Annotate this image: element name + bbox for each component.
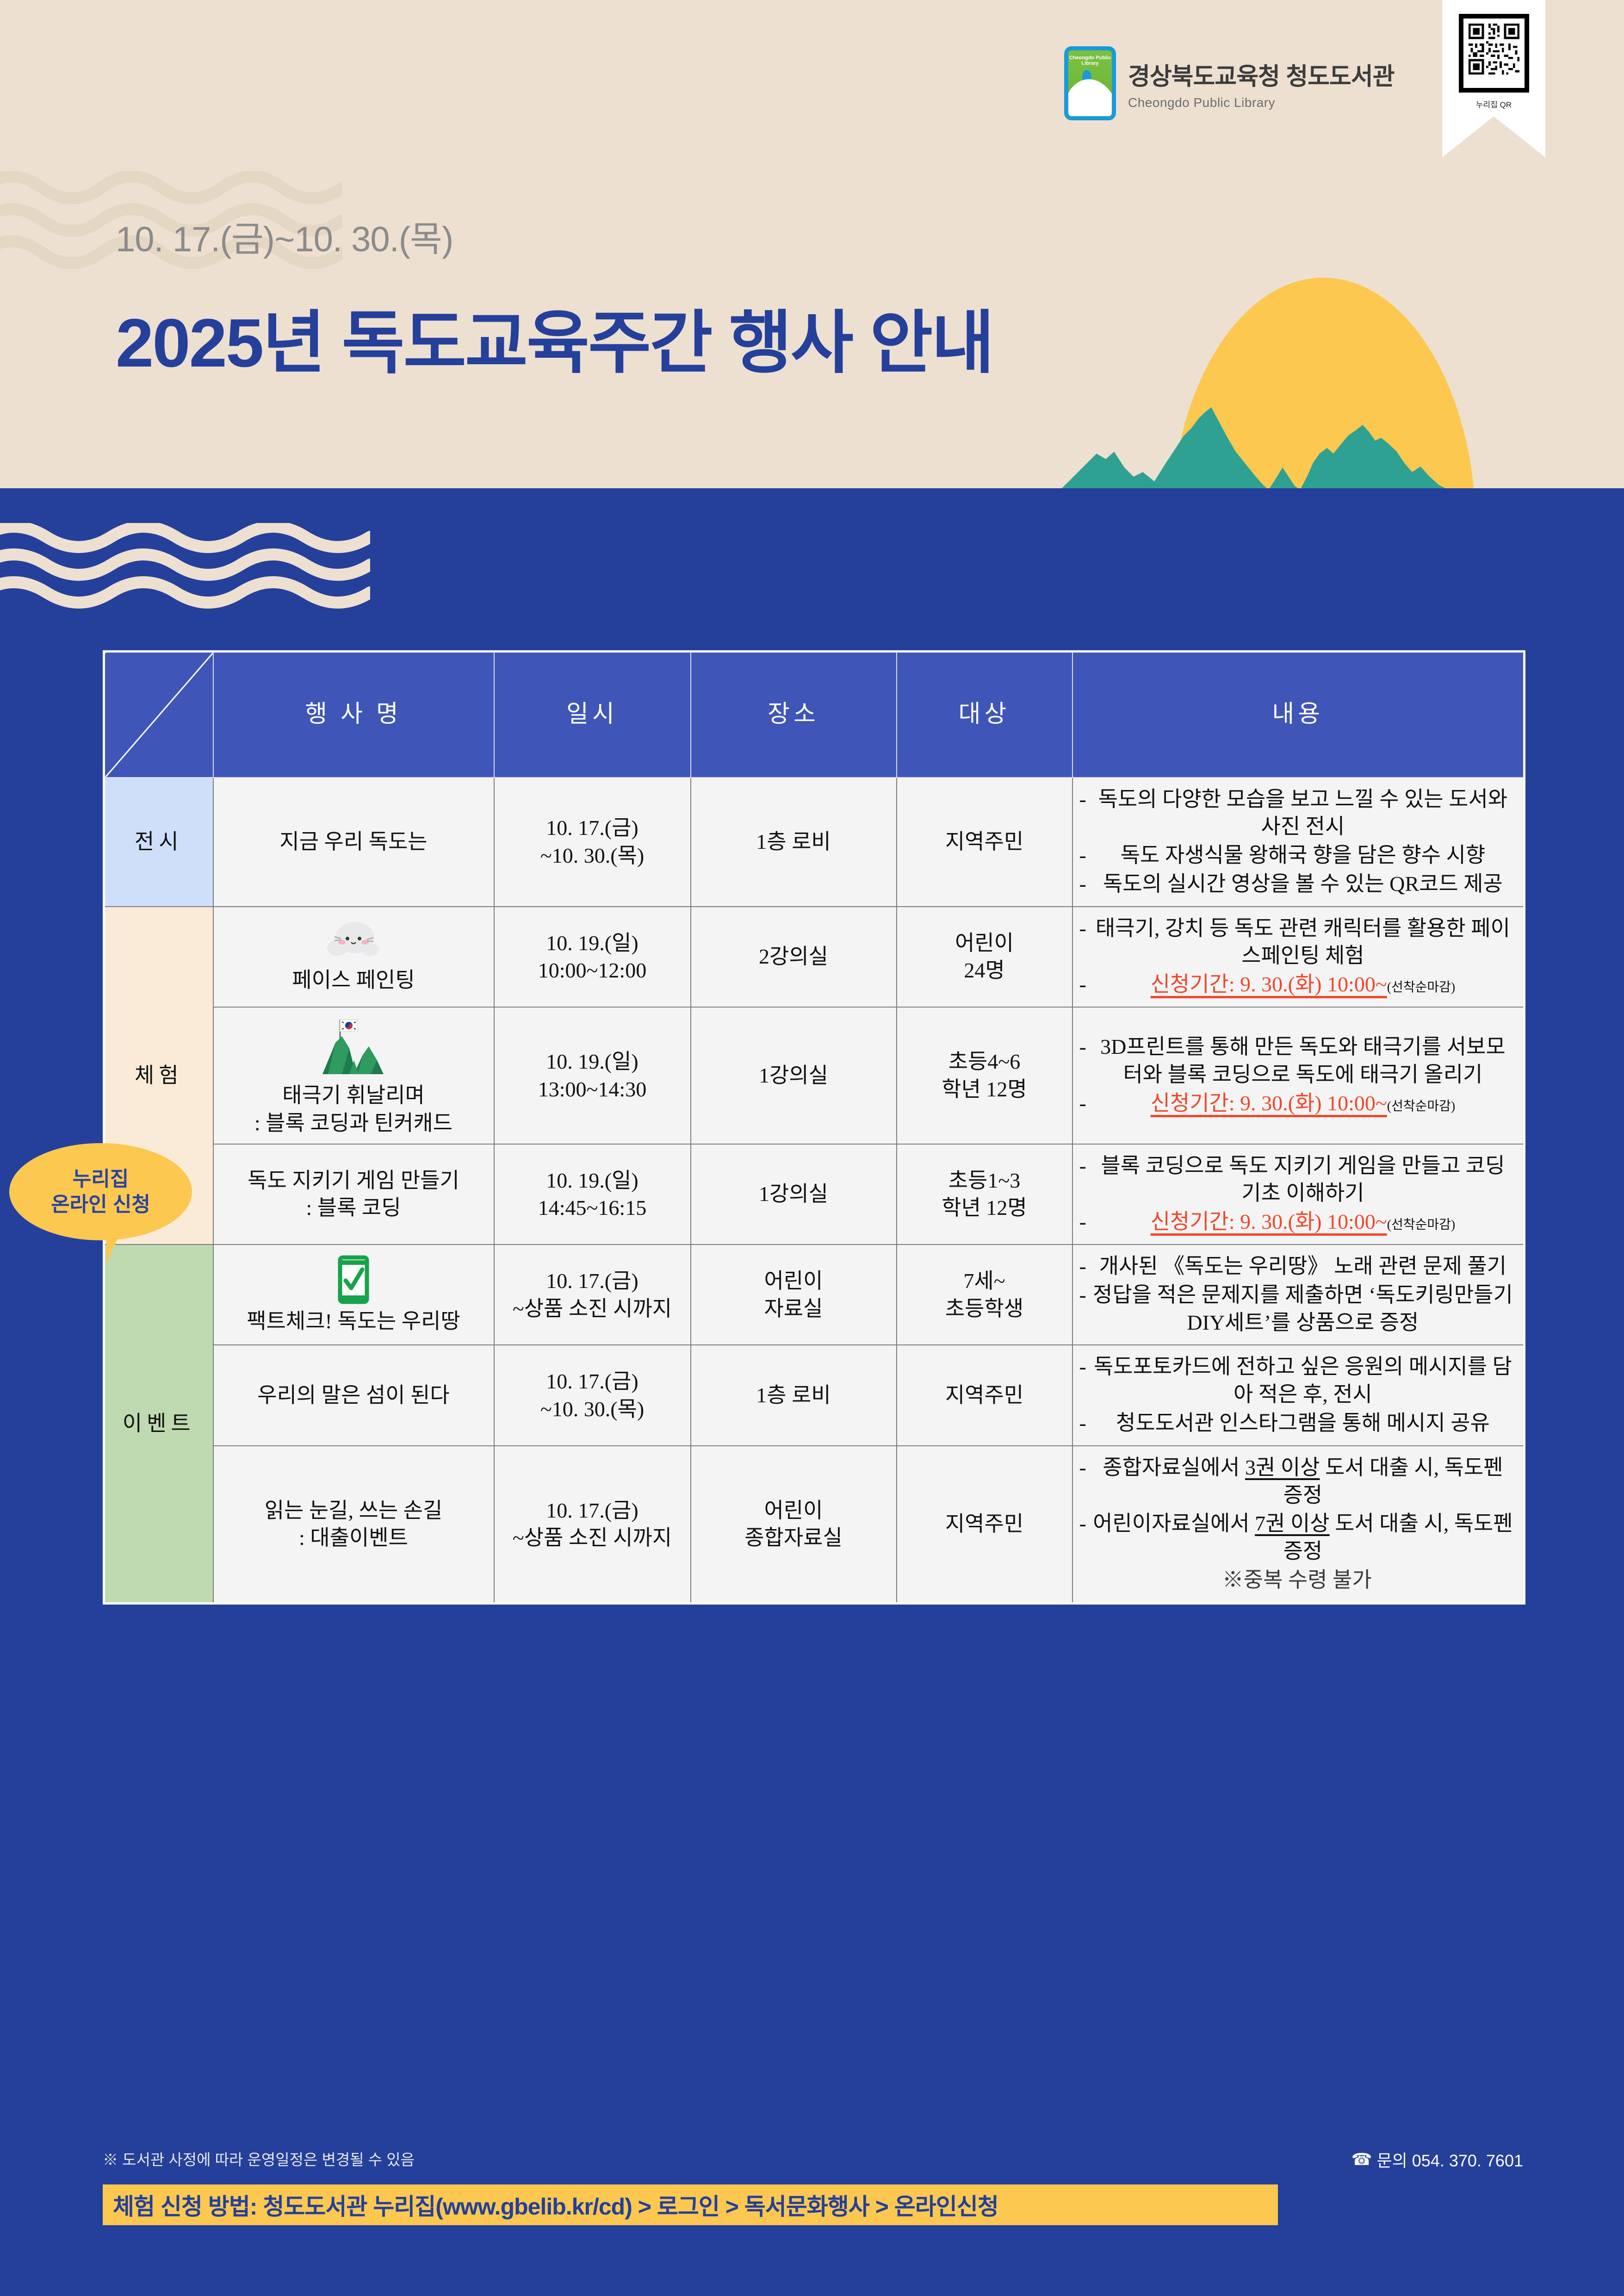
event-when-cell-line: ~10. 30.(목) <box>495 842 690 870</box>
table-body: 전시지금 우리 독도는10. 17.(금)~10. 30.(목)1층 로비지역주… <box>104 778 1525 1604</box>
column-header-name: 행 사 명 <box>213 652 494 778</box>
bullet-dash: - <box>1079 870 1086 898</box>
qr-ribbon: 누리집 QR <box>1442 0 1545 157</box>
event-where-cell: 어린이종합자료실 <box>691 1446 897 1603</box>
event-name-cell: 읽는 눈길, 쓰는 손길: 대출이벤트 <box>213 1446 494 1603</box>
event-when-cell-line: 10. 17.(금) <box>495 1497 690 1524</box>
event-name-cell: 태극기 휘날리며: 블록 코딩과 틴커캐드 <box>213 1007 494 1144</box>
table-row: 이벤트 팩트체크! 독도는 우리땅10. 17.(금)~상품 소진 시까지어린이… <box>104 1244 1525 1345</box>
event-who-cell: 7세~초등학생 <box>897 1244 1072 1345</box>
mountain-graphic <box>1060 407 1624 488</box>
event-who-cell: 어린이24명 <box>897 907 1072 1007</box>
desc-emphasis: 7권 이상 <box>1255 1512 1329 1535</box>
bullet-dash: - <box>1079 1208 1086 1236</box>
event-name-cell: 지금 우리 독도는 <box>213 778 494 907</box>
desc-text: 개사된 《독도는 우리땅》 노래 관련 문제 풀기 <box>1091 1252 1515 1280</box>
event-when-cell-line: ~상품 소진 시까지 <box>495 1524 690 1552</box>
event-where-cell-line: 어린이 <box>691 1267 896 1295</box>
event-description-cell: - 독도포토카드에 전하고 싶은 응원의 메시지를 담아 적은 후, 전시 - … <box>1072 1345 1525 1445</box>
event-who-cell-line: 학년 12명 <box>897 1076 1072 1103</box>
event-who-cell: 지역주민 <box>897 778 1072 907</box>
application-period-text: 신청기간: 9. 30.(화) 10:00~ <box>1151 1091 1387 1115</box>
bullet-dash: - <box>1079 1252 1086 1280</box>
column-header-where: 장소 <box>691 652 897 778</box>
event-description-cell: - 개사된 《독도는 우리땅》 노래 관련 문제 풀기 - 정답을 적은 문제지… <box>1072 1244 1525 1345</box>
qr-code[interactable] <box>1459 14 1529 93</box>
event-who-cell: 지역주민 <box>897 1345 1072 1445</box>
table-row: 태극기 휘날리며: 블록 코딩과 틴커캐드10. 19.(일)13:00~14:… <box>104 1007 1525 1144</box>
event-when-cell: 10. 19.(일)14:45~16:15 <box>494 1144 691 1244</box>
library-logo-text: 경상북도교육청 청도도서관 Cheongdo Public Library <box>1128 57 1395 110</box>
event-where-cell: 1층 로비 <box>691 778 897 907</box>
desc-bullet: - 신청기간: 9. 30.(화) 10:00~(선착순마감) <box>1079 1208 1515 1236</box>
event-who-cell-line: 초등4~6 <box>897 1048 1072 1076</box>
event-who-cell: 초등4~6학년 12명 <box>897 1007 1072 1144</box>
event-where-cell-line: 1강의실 <box>691 1180 896 1208</box>
bullet-dash: - <box>1079 971 1086 998</box>
bubble-line-1: 누리집 <box>73 1166 129 1192</box>
phone-number: 문의 054. 370. 7601 <box>1377 2147 1523 2172</box>
column-header-desc: 내용 <box>1072 652 1525 778</box>
seal-character-icon <box>319 919 388 964</box>
desc-text: 태극기, 강치 등 독도 관련 캐릭터를 활용한 페이스페인팅 체험 <box>1091 915 1515 970</box>
desc-bullet: - 어린이자료실에서 7권 이상 도서 대출 시, 독도펜 증정 <box>1079 1510 1515 1565</box>
body-wave-decoration <box>0 523 370 611</box>
org-name-ko: 경상북도교육청 청도도서관 <box>1128 57 1395 92</box>
event-when-cell-line: ~10. 30.(목) <box>495 1395 690 1423</box>
event-when-cell: 10. 17.(금)~10. 30.(목) <box>494 1345 691 1445</box>
desc-note: ※중복 수령 불가 <box>1079 1566 1515 1594</box>
event-when-cell-line: 10. 19.(일) <box>495 1048 690 1076</box>
desc-text: 어린이자료실에서 7권 이상 도서 대출 시, 독도펜 증정 <box>1091 1510 1515 1565</box>
desc-text: 정답을 적은 문제지를 제출하면 ‘독도키링만들기 DIY세트’를 상품으로 증… <box>1091 1281 1515 1337</box>
bullet-dash: - <box>1079 1454 1086 1481</box>
column-header-who: 대상 <box>897 652 1072 778</box>
desc-bullet: - 3D프린트를 통해 만든 독도와 태극기를 서보모터와 블록 코딩으로 독도… <box>1079 1033 1515 1089</box>
event-when-cell-line: 10. 17.(금) <box>495 1267 690 1295</box>
library-logo-mark: Cheongdo Public Library <box>1064 46 1116 120</box>
event-when-cell: 10. 17.(금)~10. 30.(목) <box>494 778 691 907</box>
desc-text: 신청기간: 9. 30.(화) 10:00~(선착순마감) <box>1091 1208 1515 1236</box>
event-name-cell: 페이스 페인팅 <box>213 907 494 1007</box>
event-when-cell-line: ~상품 소진 시까지 <box>495 1295 690 1323</box>
desc-bullet: - 청도도서관 인스타그램을 통해 메시지 공유 <box>1079 1409 1515 1437</box>
event-who-cell-line: 어린이 <box>897 929 1072 957</box>
event-name-line: 우리의 말은 섬이 된다 <box>217 1381 490 1409</box>
event-description-cell: - 블록 코딩으로 독도 지키기 게임을 만들고 코딩 기초 이해하기 - 신청… <box>1072 1144 1525 1244</box>
logo-mark-text: Cheongdo Public Library <box>1068 55 1112 66</box>
event-when-cell-line: 14:45~16:15 <box>495 1194 690 1222</box>
desc-bullet: - 종합자료실에서 3권 이상 도서 대출 시, 독도펜 증정 <box>1079 1454 1515 1509</box>
event-description-cell: - 종합자료실에서 3권 이상 도서 대출 시, 독도펜 증정 - 어린이자료실… <box>1072 1446 1525 1603</box>
event-name-line: 읽는 눈길, 쓰는 손길 <box>217 1497 490 1524</box>
desc-bullet: - 독도의 실시간 영상을 볼 수 있는 QR코드 제공 <box>1079 870 1515 898</box>
application-period-text: 신청기간: 9. 30.(화) 10:00~ <box>1151 972 1387 996</box>
event-when-cell-line: 10. 19.(일) <box>495 1167 690 1195</box>
event-where-cell: 1층 로비 <box>691 1345 897 1445</box>
bullet-dash: - <box>1079 1353 1086 1381</box>
desc-emphasis: 3권 이상 <box>1245 1456 1320 1479</box>
table-row: 우리의 말은 섬이 된다10. 17.(금)~10. 30.(목)1층 로비지역… <box>104 1345 1525 1445</box>
first-come-note: (선착순마감) <box>1387 1098 1455 1115</box>
event-who-cell-line: 지역주민 <box>897 828 1072 856</box>
event-description-cell: - 태극기, 강치 등 독도 관련 캐릭터를 활용한 페이스페인팅 체험 - 신… <box>1072 907 1525 1007</box>
event-name-line: 태극기 휘날리며 <box>217 1082 490 1109</box>
desc-bullet: - 정답을 적은 문제지를 제출하면 ‘독도키링만들기 DIY세트’를 상품으로… <box>1079 1281 1515 1337</box>
event-who-cell-line: 초등학생 <box>897 1295 1072 1323</box>
event-name-line: 독도 지키기 게임 만들기 <box>217 1167 490 1195</box>
qr-caption: 누리집 QR <box>1442 98 1545 110</box>
event-when-cell-line: 10. 17.(금) <box>495 814 690 842</box>
mountain-flag-icon <box>310 1014 397 1079</box>
first-come-note: (선착순마감) <box>1387 1217 1455 1233</box>
category-cell-exhibit: 전시 <box>104 778 213 907</box>
table-row: 체험 페이스 페인팅10. 19.(일)10:00~12:002강의실어린이24… <box>104 907 1525 1007</box>
bullet-dash: - <box>1079 1281 1086 1309</box>
bullet-dash: - <box>1079 841 1086 869</box>
table-row: 독도 지키기 게임 만들기: 블록 코딩10. 19.(일)14:45~16:1… <box>104 1144 1525 1244</box>
column-header-when: 일시 <box>494 652 691 778</box>
desc-bullet: - 블록 코딩으로 독도 지키기 게임을 만들고 코딩 기초 이해하기 <box>1079 1152 1515 1207</box>
event-when-cell: 10. 19.(일)13:00~14:30 <box>494 1007 691 1144</box>
event-name-line: : 블록 코딩과 틴커캐드 <box>217 1109 490 1137</box>
desc-text: 3D프린트를 통해 만든 독도와 태극기를 서보모터와 블록 코딩으로 독도에 … <box>1091 1033 1515 1089</box>
event-name-line: : 블록 코딩 <box>217 1194 490 1222</box>
event-when-cell: 10. 17.(금)~상품 소진 시까지 <box>494 1244 691 1345</box>
bullet-dash: - <box>1079 1510 1086 1537</box>
table-corner-cell <box>104 652 213 778</box>
event-name-line: : 대출이벤트 <box>217 1524 490 1552</box>
event-when-cell: 10. 19.(일)10:00~12:00 <box>494 907 691 1007</box>
page-title: 2025년 독도교육주간 행사 안내 <box>116 287 993 386</box>
desc-text: 청도도서관 인스타그램을 통해 메시지 공유 <box>1091 1409 1515 1437</box>
event-who-cell-line: 7세~ <box>897 1267 1072 1295</box>
desc-bullet: - 독도의 다양한 모습을 보고 느낄 수 있는 도서와 사진 전시 <box>1079 785 1515 841</box>
event-who-cell: 지역주민 <box>897 1446 1072 1603</box>
table-header-row: 행 사 명 일시 장소 대상 내용 <box>104 652 1525 778</box>
event-where-cell-line: 2강의실 <box>691 943 896 971</box>
event-where-cell: 2강의실 <box>691 907 897 1007</box>
bullet-dash: - <box>1079 1033 1086 1061</box>
desc-text: 독도포토카드에 전하고 싶은 응원의 메시지를 담아 적은 후, 전시 <box>1091 1353 1515 1408</box>
event-description-cell: - 3D프린트를 통해 만든 독도와 태극기를 서보모터와 블록 코딩으로 독도… <box>1072 1007 1525 1144</box>
desc-text: 블록 코딩으로 독도 지키기 게임을 만들고 코딩 기초 이해하기 <box>1091 1152 1515 1207</box>
org-name-en: Cheongdo Public Library <box>1128 95 1395 110</box>
event-who-cell-line: 24명 <box>897 957 1072 984</box>
desc-text: 신청기간: 9. 30.(화) 10:00~(선착순마감) <box>1091 1089 1515 1117</box>
event-when-cell-line: 13:00~14:30 <box>495 1076 690 1103</box>
phone-icon: ☎ <box>1351 2150 1372 2169</box>
desc-bullet: - 독도 자생식물 왕해국 향을 담은 향수 시향 <box>1079 841 1515 869</box>
desc-text: 종합자료실에서 3권 이상 도서 대출 시, 독도펜 증정 <box>1091 1454 1515 1509</box>
event-who-cell-line: 초등1~3 <box>897 1167 1072 1195</box>
bullet-dash: - <box>1079 1409 1086 1437</box>
library-logo: Cheongdo Public Library 경상북도교육청 청도도서관 Ch… <box>1064 46 1395 120</box>
application-period-text: 신청기간: 9. 30.(화) 10:00~ <box>1151 1210 1387 1233</box>
event-description-cell: - 독도의 다양한 모습을 보고 느낄 수 있는 도서와 사진 전시 - 독도 … <box>1072 778 1525 907</box>
event-where-cell-line: 1강의실 <box>691 1062 896 1089</box>
event-where-cell-line: 자료실 <box>691 1295 896 1323</box>
bullet-dash: - <box>1079 1152 1086 1180</box>
event-where-cell-line: 1층 로비 <box>691 1381 896 1409</box>
bullet-dash: - <box>1079 915 1086 942</box>
event-who-cell-line: 지역주민 <box>897 1510 1072 1538</box>
event-who-cell-line: 지역주민 <box>897 1381 1072 1409</box>
event-when-cell-line: 10:00~12:00 <box>495 957 690 984</box>
desc-text: 독도 자생식물 왕해국 향을 담은 향수 시향 <box>1091 841 1515 869</box>
desc-bullet: - 신청기간: 9. 30.(화) 10:00~(선착순마감) <box>1079 971 1515 998</box>
desc-text: 독도의 다양한 모습을 보고 느낄 수 있는 도서와 사진 전시 <box>1091 785 1515 841</box>
event-when-cell-line: 10. 19.(일) <box>495 929 690 957</box>
header-band: Cheongdo Public Library 경상북도교육청 청도도서관 Ch… <box>0 0 1624 488</box>
bullet-dash: - <box>1079 1089 1086 1117</box>
event-who-cell: 초등1~3학년 12명 <box>897 1144 1072 1244</box>
table-row: 읽는 눈길, 쓰는 손길: 대출이벤트10. 17.(금)~상품 소진 시까지어… <box>104 1446 1525 1603</box>
event-name-cell: 팩트체크! 독도는 우리땅 <box>213 1244 494 1345</box>
event-who-cell-line: 학년 12명 <box>897 1194 1072 1222</box>
event-where-cell: 1강의실 <box>691 1007 897 1144</box>
desc-bullet: - 독도포토카드에 전하고 싶은 응원의 메시지를 담아 적은 후, 전시 <box>1079 1353 1515 1408</box>
event-name-cell: 우리의 말은 섬이 된다 <box>213 1345 494 1445</box>
event-name-line: 페이스 페인팅 <box>217 966 490 994</box>
bullet-dash: - <box>1079 785 1086 813</box>
desc-text: ※중복 수령 불가 <box>1079 1566 1515 1594</box>
check-box-icon <box>335 1255 372 1305</box>
bubble-line-2: 온라인 신청 <box>51 1192 150 1217</box>
application-method-banner[interactable]: 체험 신청 방법: 청도도서관 누리집(www.gbelib.kr/cd) > … <box>103 2184 1278 2225</box>
desc-text: 신청기간: 9. 30.(화) 10:00~(선착순마감) <box>1091 971 1515 998</box>
desc-bullet: - 신청기간: 9. 30.(화) 10:00~(선착순마감) <box>1079 1089 1515 1117</box>
desc-text: 독도의 실시간 영상을 볼 수 있는 QR코드 제공 <box>1091 870 1515 898</box>
footer-contact: ☎ 문의 054. 370. 7601 <box>1351 2147 1523 2172</box>
event-name-line: 지금 우리 독도는 <box>217 828 490 856</box>
table-row: 전시지금 우리 독도는10. 17.(금)~10. 30.(목)1층 로비지역주… <box>104 778 1525 907</box>
event-where-cell-line: 종합자료실 <box>691 1524 896 1552</box>
event-when-cell-line: 10. 17.(금) <box>495 1368 690 1395</box>
event-where-cell: 1강의실 <box>691 1144 897 1244</box>
category-cell-event: 이벤트 <box>104 1244 213 1603</box>
event-name-line: 팩트체크! 독도는 우리땅 <box>217 1307 490 1335</box>
event-where-cell-line: 1층 로비 <box>691 828 896 856</box>
event-when-cell: 10. 17.(금)~상품 소진 시까지 <box>494 1446 691 1603</box>
qr-code-pattern <box>1466 21 1522 77</box>
event-date-range: 10. 17.(금)~10. 30.(목) <box>116 211 453 261</box>
bubble-tail <box>106 1226 123 1263</box>
footer-disclaimer: ※ 도서관 사정에 따라 운영일정은 변경될 수 있음 <box>103 2147 415 2170</box>
event-where-cell-line: 어린이 <box>691 1497 896 1524</box>
desc-bullet: - 태극기, 강치 등 독도 관련 캐릭터를 활용한 페이스페인팅 체험 <box>1079 915 1515 970</box>
first-come-note: (선착순마감) <box>1387 979 1455 996</box>
desc-bullet: - 개사된 《독도는 우리땅》 노래 관련 문제 풀기 <box>1079 1252 1515 1280</box>
event-schedule-table: 행 사 명 일시 장소 대상 내용 전시지금 우리 독도는10. 17.(금)~… <box>103 650 1525 1605</box>
event-name-cell: 독도 지키기 게임 만들기: 블록 코딩 <box>213 1144 494 1244</box>
online-application-bubble: 누리집 온라인 신청 <box>9 1143 192 1240</box>
event-where-cell: 어린이자료실 <box>691 1244 897 1345</box>
